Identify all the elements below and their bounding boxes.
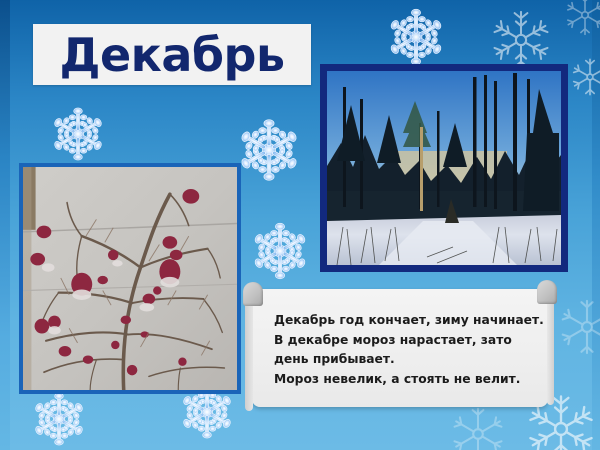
- snowflake-crystal-bottom-left-icon: [28, 388, 90, 450]
- left-edge-band: [0, 0, 10, 450]
- proverbs-panel: Декабрь год кончает, зиму начинает. В де…: [252, 289, 548, 407]
- berries-tree-photo: [19, 163, 241, 394]
- scroll-curl-right-icon: [537, 280, 557, 304]
- proverb-line-4: Мороз невелик, а стоять не велит.: [274, 370, 534, 390]
- page-title: Декабрь: [33, 24, 311, 85]
- snowflake-crystal-left-upper-icon: [47, 103, 109, 165]
- scroll-left-edge: [245, 299, 253, 411]
- proverb-line-1: Декабрь год кончает, зиму начинает.: [274, 311, 534, 331]
- scroll-curl-left-icon: [243, 282, 263, 306]
- right-edge-band: [592, 0, 600, 450]
- snowflake-crystal-top-center-icon: [383, 4, 449, 70]
- snowflake-crystal-center-lower-icon: [247, 218, 313, 284]
- proverb-line-3: день прибывает.: [274, 350, 534, 370]
- snowflake-crystal-center-upper-icon: [233, 114, 305, 186]
- proverbs-text: Декабрь год кончает, зиму начинает. В де…: [274, 311, 534, 389]
- berries-tree-image: [23, 167, 237, 390]
- scroll-right-edge: [547, 297, 554, 405]
- snowflake-outline-top-right-large-icon: [489, 8, 553, 72]
- proverb-line-2: В декабре мороз нарастает, зато: [274, 331, 534, 351]
- winter-forest-image: [327, 71, 561, 265]
- snowflake-outline-bottom-mid-icon: [448, 404, 508, 450]
- slide-canvas: Декабрь: [0, 0, 600, 450]
- page-title-label: Декабрь: [59, 32, 284, 78]
- winter-forest-photo: [320, 64, 568, 272]
